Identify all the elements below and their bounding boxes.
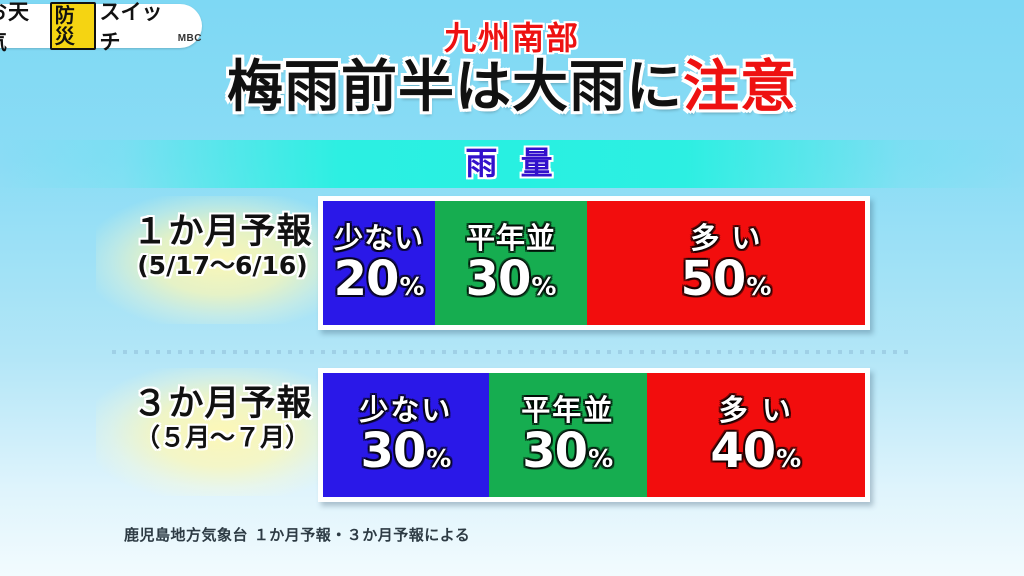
segment-category-below: 少ない — [334, 223, 424, 253]
row-label-3month-title: ３か月予報 — [110, 386, 335, 423]
segment-value-above: 40 — [710, 427, 775, 475]
source-note: 鹿児島地方気象台 １か月予報・３か月予報による — [124, 524, 470, 545]
segment-value-normal: 30 — [522, 427, 587, 475]
headline-block: 九州南部 梅雨前半は大雨に注意 — [0, 22, 1024, 116]
segment-value-wrap-normal: 30 % — [522, 427, 613, 475]
bar-segment-above: 多 い 40 % — [647, 373, 865, 497]
segment-category-normal: 平年並 — [521, 395, 614, 425]
row-label-3month: ３か月予報 （５月〜７月） — [110, 386, 335, 451]
segment-value-below: 20 — [334, 255, 399, 303]
segment-value-below: 30 — [360, 427, 425, 475]
segment-value-wrap-below: 30 % — [360, 427, 451, 475]
segment-percent-sign-normal: % — [531, 274, 556, 299]
bar-segment-below: 少ない 20 % — [323, 201, 435, 325]
segment-percent-sign-normal: % — [588, 446, 613, 471]
segment-value-above: 50 — [681, 255, 746, 303]
region-title: 九州南部 — [0, 22, 1024, 54]
stacked-bar-3month: 少ない 30 % 平年並 30 % 多 い 40 % — [318, 368, 870, 502]
dotted-divider — [112, 350, 912, 354]
stacked-bar-1month: 少ない 20 % 平年並 30 % 多 い 50 % — [318, 196, 870, 330]
page-title: 梅雨前半は大雨に注意 — [0, 60, 1024, 116]
segment-value-wrap-normal: 30 % — [466, 255, 557, 303]
segment-percent-sign-below: % — [426, 446, 451, 471]
page-title-emphasis: 注意 — [683, 55, 797, 120]
segment-category-above: 多 い — [719, 395, 793, 425]
page-title-main: 梅雨前半は大雨に — [227, 55, 683, 120]
segment-percent-sign-above: % — [746, 274, 771, 299]
segment-value-wrap-above: 50 % — [681, 255, 772, 303]
segment-percent-sign-below: % — [399, 274, 424, 299]
segment-category-below: 少ない — [359, 395, 452, 425]
segment-percent-sign-above: % — [776, 446, 801, 471]
section-title-rainfall: 雨 量 — [0, 142, 1024, 185]
segment-category-normal: 平年並 — [466, 223, 556, 253]
bar-track: 少ない 20 % 平年並 30 % 多 い 50 % — [323, 201, 865, 325]
segment-value-wrap-above: 40 % — [710, 427, 801, 475]
row-label-1month-title: １か月予報 — [110, 214, 335, 251]
segment-value-wrap-below: 20 % — [334, 255, 425, 303]
segment-category-above: 多 い — [690, 223, 761, 253]
bar-segment-above: 多 い 50 % — [587, 201, 865, 325]
row-label-1month: １か月予報 (5/17〜6/16) — [110, 214, 335, 279]
row-label-3month-period: （５月〜７月） — [110, 425, 335, 451]
bar-segment-normal: 平年並 30 % — [489, 373, 647, 497]
bar-segment-normal: 平年並 30 % — [435, 201, 587, 325]
bar-segment-below: 少ない 30 % — [323, 373, 489, 497]
segment-value-normal: 30 — [466, 255, 531, 303]
bar-track: 少ない 30 % 平年並 30 % 多 い 40 % — [323, 373, 865, 497]
row-label-1month-period: (5/17〜6/16) — [110, 253, 335, 279]
